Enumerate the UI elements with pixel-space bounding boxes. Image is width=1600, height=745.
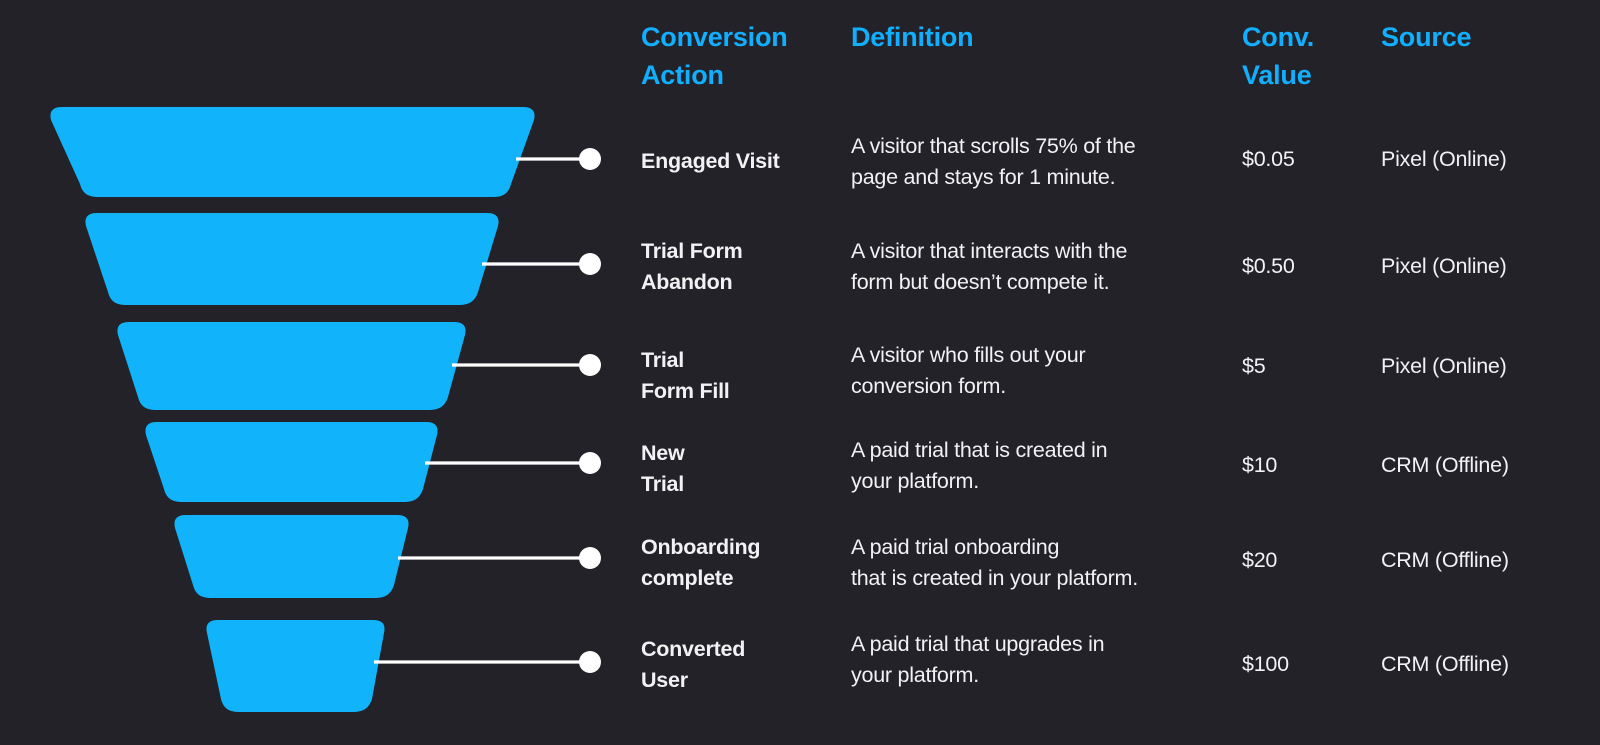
table-row: A visitor who fills out your conversion …	[851, 340, 1241, 401]
table-row: $0.50	[1242, 251, 1377, 282]
table-row: $20	[1242, 545, 1377, 576]
column-header-conversion-action: Conversion Action	[641, 18, 841, 95]
table-row: New Trial	[641, 438, 846, 499]
table-row: $100	[1242, 649, 1377, 680]
table-row: Trial Form Fill	[641, 345, 846, 406]
table-row: A paid trial that is created in your pla…	[851, 435, 1241, 496]
conversion-table: Conversion Action Definition Conv. Value…	[0, 0, 1600, 745]
table-row: A paid trial that upgrades in your platf…	[851, 629, 1241, 690]
table-row: CRM (Offline)	[1381, 450, 1596, 481]
table-row: Engaged Visit	[641, 146, 846, 177]
funnel-infographic: Conversion Action Definition Conv. Value…	[0, 0, 1600, 745]
table-row: Pixel (Online)	[1381, 351, 1596, 382]
table-row: Converted User	[641, 634, 846, 695]
table-row: A visitor that interacts with the form b…	[851, 236, 1241, 297]
table-row: CRM (Offline)	[1381, 649, 1596, 680]
table-row: $0.05	[1242, 144, 1377, 175]
table-row: Onboarding complete	[641, 532, 846, 593]
table-row: Pixel (Online)	[1381, 144, 1596, 175]
table-row: Pixel (Online)	[1381, 251, 1596, 282]
table-row: $10	[1242, 450, 1377, 481]
column-header-conv-value: Conv. Value	[1242, 18, 1372, 95]
table-row: $5	[1242, 351, 1377, 382]
column-header-source: Source	[1381, 18, 1591, 56]
table-row: CRM (Offline)	[1381, 545, 1596, 576]
table-row: A paid trial onboarding that is created …	[851, 532, 1241, 593]
table-row: A visitor that scrolls 75% of the page a…	[851, 131, 1241, 192]
table-row: Trial Form Abandon	[641, 236, 846, 297]
column-header-definition: Definition	[851, 18, 1181, 56]
